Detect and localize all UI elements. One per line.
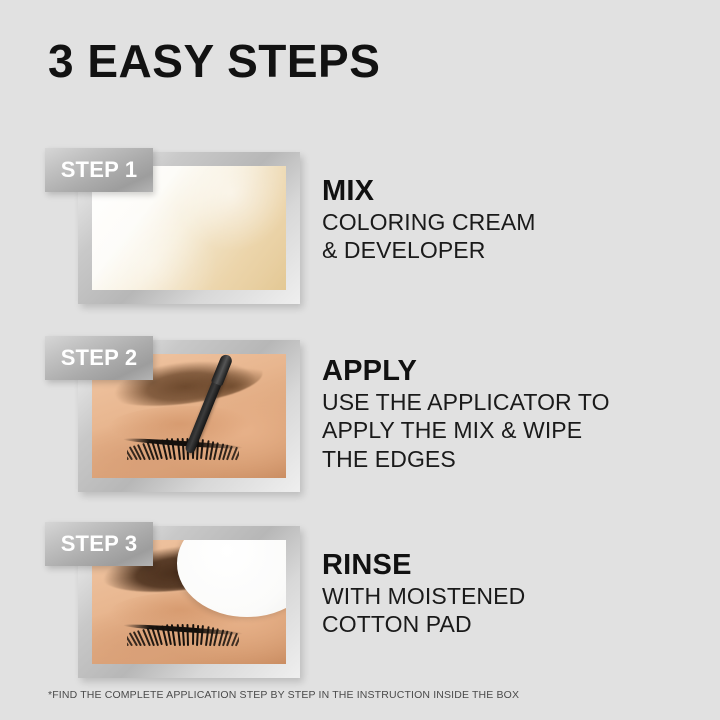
step-copy-2: APPLY USE THE APPLICATOR TO APPLY THE MI… <box>322 356 688 473</box>
step-badge-label-1: STEP 1 <box>61 159 138 181</box>
step-badge-label-2: STEP 2 <box>61 347 138 369</box>
page-title: 3 EASY STEPS <box>48 38 380 84</box>
step-badge-label-3: STEP 3 <box>61 533 138 555</box>
step-desc-3-line-1: WITH MOISTENED <box>322 582 688 610</box>
step-desc-2-line-1: USE THE APPLICATOR TO <box>322 388 688 416</box>
step-badge-3: STEP 3 <box>45 522 153 566</box>
step-desc-1-line-2: & DEVELOPER <box>322 236 688 264</box>
eyelashes <box>127 438 240 465</box>
footnote: *FIND THE COMPLETE APPLICATION STEP BY S… <box>48 689 519 701</box>
step-desc-3-line-2: COTTON PAD <box>322 610 688 638</box>
step-desc-1-line-1: COLORING CREAM <box>322 208 688 236</box>
step-desc-2-line-3: THE EDGES <box>322 445 688 473</box>
step-badge-2: STEP 2 <box>45 336 153 380</box>
step-desc-2-line-2: APPLY THE MIX & WIPE <box>322 416 688 444</box>
eyelashes <box>127 624 240 651</box>
step-title-1: MIX <box>322 176 688 206</box>
step-badge-1: STEP 1 <box>45 148 153 192</box>
step-copy-1: MIX COLORING CREAM & DEVELOPER <box>322 176 688 265</box>
step-copy-3: RINSE WITH MOISTENED COTTON PAD <box>322 550 688 639</box>
infographic-page: 3 EASY STEPS STEP 1 MIX COLORING CREAM &… <box>0 0 720 720</box>
step-title-3: RINSE <box>322 550 688 580</box>
step-title-2: APPLY <box>322 356 688 386</box>
